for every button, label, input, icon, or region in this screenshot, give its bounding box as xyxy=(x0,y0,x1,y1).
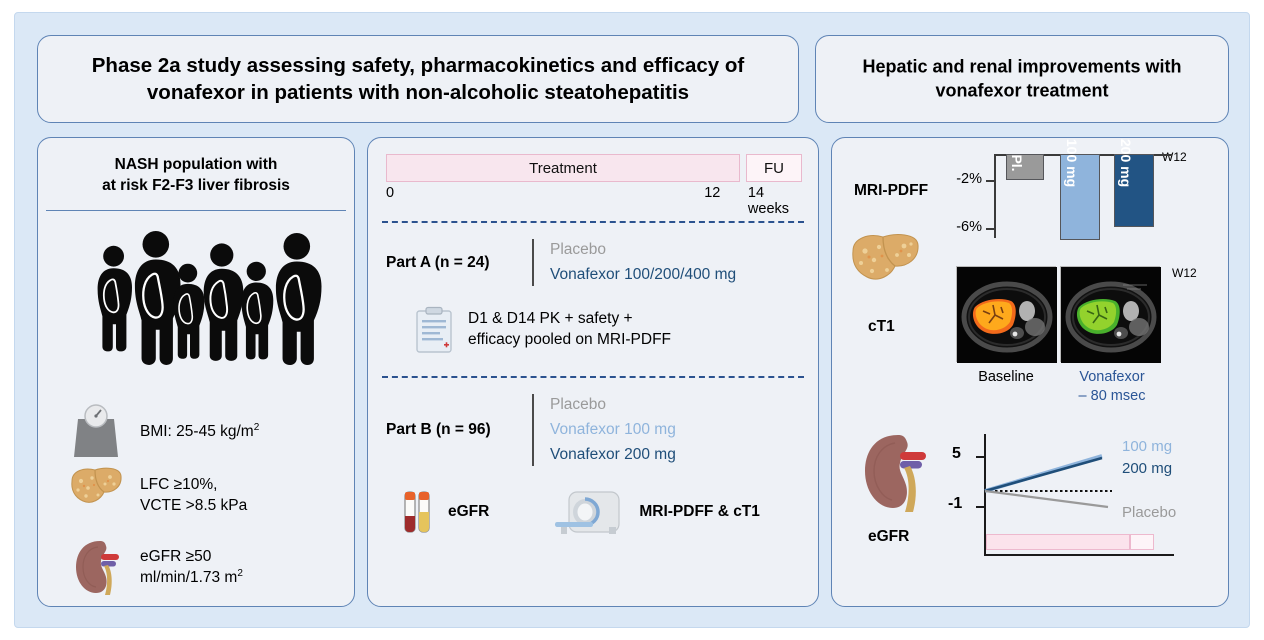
part-a-arms: Placebo Vonafexor 100/200/400 mg xyxy=(550,239,736,286)
criterion-egfr-text: eGFR ≥50 ml/min/1.73 m2 xyxy=(140,547,243,590)
clipboard-icon xyxy=(414,306,454,354)
timeline-followup-bar: FU xyxy=(746,154,802,182)
result-label-mri-pdff: MRI-PDFF xyxy=(854,182,928,200)
study-design-panel: Treatment FU 0 12 14 weeks Part A (n = 2… xyxy=(367,137,819,607)
timeline-tick-14: 14 weeks xyxy=(748,185,802,217)
divider xyxy=(46,210,346,211)
results-panel: MRI-PDFF W12 -2% -6% Pl. 100 mg 200 mg xyxy=(831,137,1229,607)
result-label-egfr: eGFR xyxy=(868,528,909,546)
arm-placebo: Placebo xyxy=(550,394,676,416)
ct1-image-vonafexor xyxy=(1060,266,1160,362)
arm-vonafexor: Vonafexor 100/200/400 mg xyxy=(550,264,736,286)
ct1-caption-vonafexor: Vonafexor – 80 msec xyxy=(1056,368,1168,406)
chart-treatment-band xyxy=(986,534,1130,550)
legend-placebo: Placebo xyxy=(1122,504,1176,521)
arm-vonafexor-100mg: Vonafexor 100 mg xyxy=(550,419,676,441)
population-heading: NASH population with at risk F2-F3 liver… xyxy=(38,138,354,196)
kidney-icon xyxy=(854,430,932,516)
part-a-block: Part A (n = 24) Placebo Vonafexor 100/20… xyxy=(368,239,818,354)
divider-timeline xyxy=(382,221,804,223)
part-a-assessment-text: D1 & D14 PK + safety + efficacy pooled o… xyxy=(468,309,671,351)
ct1-image-baseline xyxy=(956,266,1056,362)
results-title: Hepatic and renal improvements with vona… xyxy=(816,55,1228,103)
kidney-icon xyxy=(68,537,124,599)
blood-tubes-icon xyxy=(400,488,434,536)
criterion-bmi-text: BMI: 25-45 kg/m2 xyxy=(140,421,259,443)
chart-ticklabel-minus2: -2% xyxy=(932,171,982,187)
measure-mri-label: MRI-PDFF & cT1 xyxy=(639,503,760,521)
chart-axis-left xyxy=(994,154,996,238)
legend-100mg: 100 mg xyxy=(1122,438,1172,455)
fatty-liver-icon xyxy=(68,465,124,527)
chart-tick-minus2 xyxy=(986,180,995,182)
poster-canvas: Phase 2a study assessing safety, pharmac… xyxy=(14,12,1250,628)
criterion-bmi: BMI: 25-45 kg/m2 xyxy=(38,396,354,468)
ct1-timepoint: W12 xyxy=(1172,266,1197,280)
timeline-treatment-bar: Treatment xyxy=(386,154,740,182)
legend-200mg: 200 mg xyxy=(1122,460,1172,477)
bar-placebo: Pl. xyxy=(1006,154,1044,180)
bar-200mg: 200 mg xyxy=(1114,154,1154,227)
fatty-liver-icon xyxy=(848,230,922,286)
study-title: Phase 2a study assessing safety, pharmac… xyxy=(38,52,798,106)
mri-pdff-bar-chart: -2% -6% Pl. 100 mg 200 mg xyxy=(962,154,1172,238)
criterion-egfr: eGFR ≥50 ml/min/1.73 m2 xyxy=(38,532,354,604)
arm-separator xyxy=(532,394,534,466)
part-b-arms: Placebo Vonafexor 100 mg Vonafexor 200 m… xyxy=(550,394,676,466)
result-label-ct1: cT1 xyxy=(868,318,895,336)
right-title-panel: Hepatic and renal improvements with vona… xyxy=(815,35,1229,123)
ct1-caption-baseline: Baseline xyxy=(952,368,1060,387)
population-panel: NASH population with at risk F2-F3 liver… xyxy=(37,137,355,607)
mri-scanner-icon xyxy=(553,488,625,536)
criterion-lfc-text: LFC ≥10%, VCTE >8.5 kPa xyxy=(140,475,247,517)
measure-egfr-label: eGFR xyxy=(448,503,489,521)
weight-scale-icon xyxy=(68,401,124,463)
part-b-measures: eGFR MRI-PDFF & cT1 xyxy=(368,488,818,536)
chart-ticklabel-minus1: -1 xyxy=(948,495,962,513)
arm-separator xyxy=(532,239,534,286)
chart-followup-band xyxy=(1130,534,1154,550)
chart-ticklabel-minus6: -6% xyxy=(932,219,982,235)
timeline-tick-12: 12 xyxy=(704,185,720,201)
part-b-block: Part B (n = 96) Placebo Vonafexor 100 mg… xyxy=(368,394,818,536)
criterion-lfc: LFC ≥10%, VCTE >8.5 kPa xyxy=(38,460,354,532)
study-timeline: Treatment FU 0 12 14 weeks xyxy=(386,154,802,207)
part-a-label: Part A (n = 24) xyxy=(386,254,532,272)
arm-vonafexor-200mg: Vonafexor 200 mg xyxy=(550,444,676,466)
part-b-label: Part B (n = 96) xyxy=(386,421,532,439)
bar-100mg: 100 mg xyxy=(1060,154,1100,240)
chart-ticklabel-5: 5 xyxy=(952,445,961,463)
egfr-line-chart: 5 -1 100 mg 200 mg Placebo xyxy=(944,434,1204,566)
left-title-panel: Phase 2a study assessing safety, pharmac… xyxy=(37,35,799,123)
chart-tick-minus6 xyxy=(986,228,995,230)
part-a-assessment: D1 & D14 PK + safety + efficacy pooled o… xyxy=(368,306,818,354)
timeline-tick-0: 0 xyxy=(386,185,394,201)
arm-placebo: Placebo xyxy=(550,239,736,261)
patient-group-illustration xyxy=(38,221,354,371)
divider-parts xyxy=(382,376,804,378)
timeline-ticks: 0 12 14 weeks xyxy=(386,185,802,207)
